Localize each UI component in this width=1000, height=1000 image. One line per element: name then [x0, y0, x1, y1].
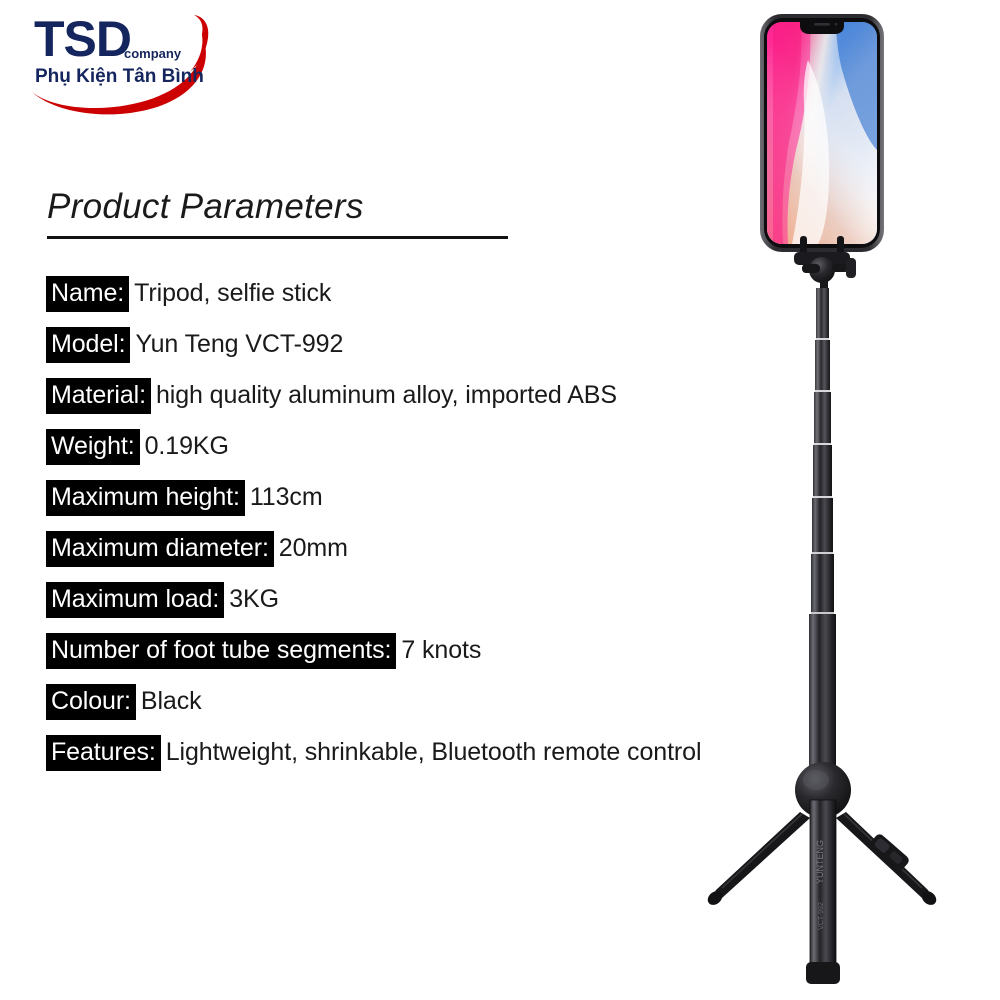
spec-value: 0.19KG	[140, 434, 229, 459]
pole-segment-2	[815, 340, 830, 392]
pole-segment-5	[812, 498, 833, 554]
hub-highlight	[803, 770, 829, 790]
spec-value: 7 knots	[396, 638, 481, 663]
spec-value: Lightweight, shrinkable, Bluetooth remot…	[161, 740, 702, 765]
leg-highlight-left	[722, 814, 802, 888]
spec-label: Maximum height:	[46, 480, 245, 516]
spec-label: Number of foot tube segments:	[46, 633, 396, 669]
pole-segment-7	[809, 614, 836, 766]
spec-label: Features:	[46, 735, 161, 771]
pole-model-text: VCT-992	[818, 902, 825, 930]
title-divider	[47, 236, 508, 239]
logo-main-text: TSD	[34, 11, 131, 67]
logo-tagline-text: Phụ Kiện Tân Bình	[35, 66, 204, 87]
smartphone	[760, 14, 884, 252]
tripod-base: YUNTENG VCT-992	[705, 762, 939, 984]
tripod-leg-left	[710, 812, 810, 900]
title-block: Product Parameters	[47, 185, 517, 239]
spec-label: Maximum load:	[46, 582, 224, 618]
logo-sub-text: company	[124, 46, 182, 61]
page-title: Product Parameters	[47, 185, 517, 229]
ball-head-arm-left	[802, 264, 820, 273]
spec-label: Name:	[46, 276, 129, 312]
spec-label: Material:	[46, 378, 151, 414]
spec-value: 113cm	[245, 485, 323, 510]
adjustment-knob	[846, 258, 856, 278]
spec-label: Maximum diameter:	[46, 531, 274, 567]
brand-logo: TSD company Phụ Kiện Tân Bình	[14, 6, 224, 116]
spec-value: high quality aluminum alloy, imported AB…	[151, 383, 617, 408]
pole-brand-text: YUNTENG	[815, 840, 825, 884]
earpiece-speaker-icon	[814, 23, 830, 26]
product-photo: YUNTENG VCT-992	[660, 0, 1000, 1000]
pole-segment-3	[814, 392, 831, 445]
spec-value: 20mm	[274, 536, 348, 561]
knob-shaft	[832, 264, 848, 272]
pole-segment-4	[813, 445, 832, 498]
phone-screen	[767, 22, 877, 244]
spec-value: Black	[136, 689, 202, 714]
pole-segment-1	[816, 288, 829, 340]
spec-value: Yun Teng VCT-992	[130, 332, 343, 357]
spec-value: 3KG	[224, 587, 279, 612]
telescoping-pole	[809, 288, 836, 766]
phone-notch	[800, 18, 844, 34]
spec-label: Colour:	[46, 684, 136, 720]
spec-label: Model:	[46, 327, 130, 363]
front-camera-icon	[835, 23, 838, 26]
spec-value: Tripod, selfie stick	[129, 281, 331, 306]
pole-segment-6	[811, 554, 834, 614]
center-column-foot	[806, 962, 840, 984]
spec-label: Weight:	[46, 429, 140, 465]
